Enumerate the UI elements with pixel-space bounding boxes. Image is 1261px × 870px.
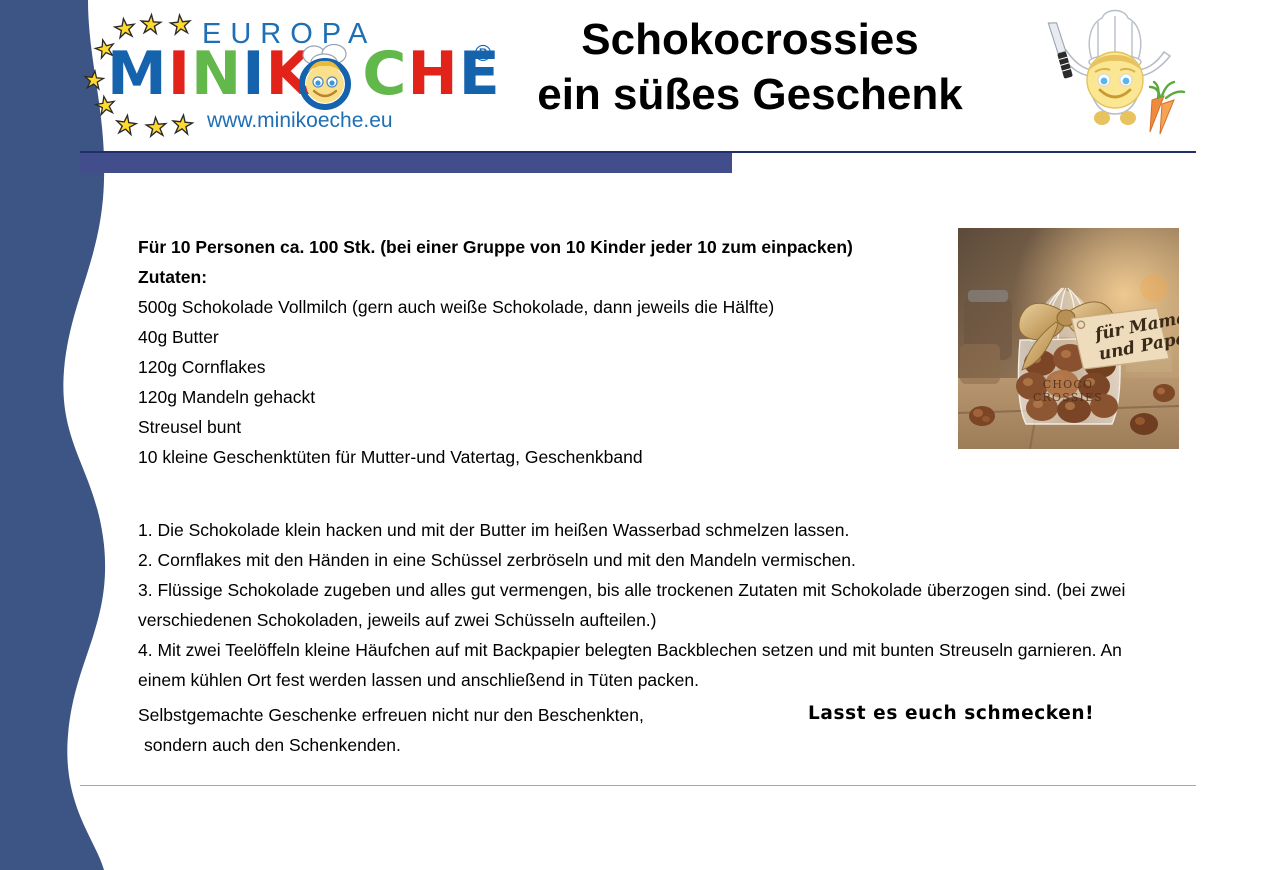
ingredients-heading: Zutaten: xyxy=(138,262,958,292)
recipe-step: 1. Die Schokolade klein hacken und mit d… xyxy=(138,515,1143,545)
ingredient-item: Streusel bunt xyxy=(138,412,958,442)
logo-letter: I xyxy=(168,39,191,109)
page-title-line-2: ein süßes Geschenk xyxy=(470,67,1030,122)
recipe-step: 3. Flüssige Schokolade zugeben und alles… xyxy=(138,575,1143,635)
page-title-line-1: Schokocrossies xyxy=(470,12,1030,67)
page-title: Schokocrossies ein süßes Geschenk xyxy=(470,12,1030,122)
ingredient-item: 500g Schokolade Vollmilch (gern auch wei… xyxy=(138,292,958,322)
servings-intro: Für 10 Personen ca. 100 Stk. (bei einer … xyxy=(138,232,958,262)
ingredients-list: Für 10 Personen ca. 100 Stk. (bei einer … xyxy=(138,232,958,472)
document-header: EUROPA MINIKOCHE ® www.minikoeche.e xyxy=(0,0,1261,143)
logo-letter: H xyxy=(407,39,458,109)
logo-letter: I xyxy=(242,39,265,109)
recipe-page: EUROPA MINIKOCHE ® www.minikoeche.e xyxy=(0,0,1261,870)
logo-letter: M xyxy=(107,39,168,109)
closing-message: Selbstgemachte Geschenke erfreuen nicht … xyxy=(138,700,758,760)
closing-line-1: Selbstgemachte Geschenke erfreuen nicht … xyxy=(138,700,758,730)
europa-minikoeche-logo: EUROPA MINIKOCHE ® www.minikoeche.e xyxy=(82,6,502,138)
choco-crossies-gift-bag-photo: CHOCO CROSSIES xyxy=(958,228,1179,449)
svg-text:CROSSIES: CROSSIES xyxy=(1033,391,1103,404)
recipe-steps-section: 1. Die Schokolade klein hacken und mit d… xyxy=(138,515,1143,695)
header-accent-bar xyxy=(80,153,732,173)
logo-letter: N xyxy=(191,39,242,109)
footer-divider-rule xyxy=(80,785,1196,786)
logo-website-url: www.minikoeche.eu xyxy=(207,109,393,133)
logo-letter: C xyxy=(362,39,407,109)
enjoy-note: Lasst es euch schmecken! xyxy=(808,703,1094,724)
recipe-step: 2. Cornflakes mit den Händen in eine Sch… xyxy=(138,545,1143,575)
recipe-step: 4. Mit zwei Teelöffeln kleine Häufchen a… xyxy=(138,635,1143,695)
ingredient-item: 10 kleine Geschenktüten für Mutter-und V… xyxy=(138,442,958,472)
ingredient-item: 40g Butter xyxy=(138,322,958,352)
bag-label: CHOCO CROSSIES xyxy=(1033,378,1103,404)
chef-mascot-with-knife-and-carrot-icon xyxy=(1040,2,1190,142)
ingredient-item: 120g Mandeln gehackt xyxy=(138,382,958,412)
ingredient-item: 120g Cornflakes xyxy=(138,352,958,382)
chef-smiley-face-icon xyxy=(294,42,356,110)
closing-line-2: sondern auch den Schenkenden. xyxy=(138,730,758,760)
svg-text:CHOCO: CHOCO xyxy=(1043,378,1093,391)
